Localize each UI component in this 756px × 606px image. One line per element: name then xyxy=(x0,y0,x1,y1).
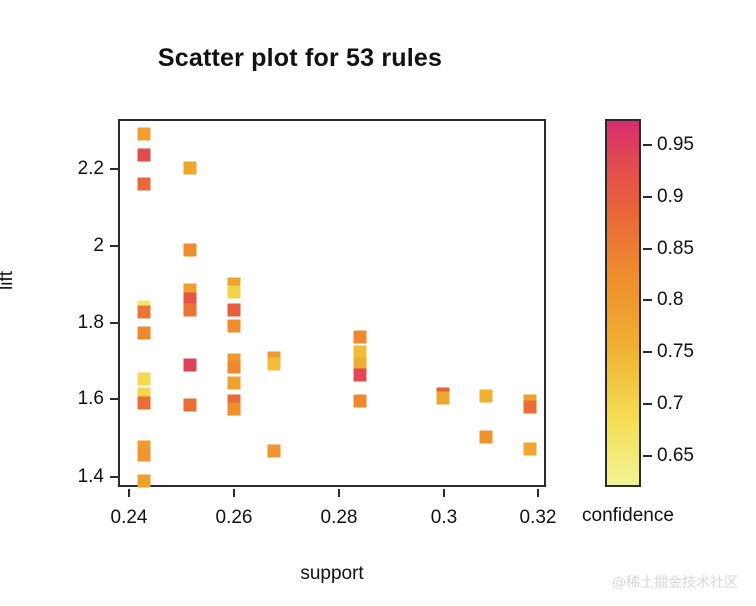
x-axis-title: support xyxy=(118,563,546,585)
x-axis-tick xyxy=(233,489,235,497)
y-tick-label: 1.6 xyxy=(78,388,104,410)
y-axis-tick xyxy=(110,245,118,247)
data-point xyxy=(267,444,280,457)
colorbar-tick xyxy=(643,248,652,250)
y-tick-label: 2 xyxy=(93,235,104,257)
y-axis-title: lift xyxy=(0,271,18,290)
data-point xyxy=(138,372,151,385)
data-point xyxy=(354,395,367,408)
colorbar-tick-label: 0.9 xyxy=(657,186,683,208)
y-axis-tick xyxy=(110,476,118,478)
data-point xyxy=(524,442,537,455)
data-point xyxy=(228,285,241,298)
data-point xyxy=(228,319,241,332)
colorbar-tick xyxy=(643,196,652,198)
x-tick-label: 0.32 xyxy=(520,507,557,529)
data-point xyxy=(184,399,197,412)
x-axis-tick xyxy=(338,489,340,497)
y-tick-label: 1.4 xyxy=(78,466,104,488)
data-point xyxy=(138,177,151,190)
x-tick-label: 0.28 xyxy=(321,507,358,529)
x-tick-label: 0.26 xyxy=(216,507,253,529)
data-point xyxy=(354,368,367,381)
data-point xyxy=(228,304,241,317)
scatter-plot-figure: Scatter plot for 53 rules 1.4 1.6 1.8 2 … xyxy=(0,0,756,606)
data-point xyxy=(138,128,151,141)
data-point xyxy=(480,431,493,444)
y-axis-tick xyxy=(110,322,118,324)
y-axis-tick xyxy=(110,168,118,170)
colorbar-tick-label: 0.8 xyxy=(657,289,683,311)
y-tick-label: 1.8 xyxy=(78,312,104,334)
data-point xyxy=(267,357,280,370)
colorbar-tick-label: 0.7 xyxy=(657,393,683,415)
colorbar-tick xyxy=(643,299,652,301)
colorbar-tick xyxy=(643,403,652,405)
colorbar-tick-label: 0.95 xyxy=(657,134,694,156)
confidence-colorbar xyxy=(605,119,641,487)
x-axis-tick xyxy=(443,489,445,497)
x-tick-label: 0.3 xyxy=(431,507,457,529)
x-tick-label: 0.24 xyxy=(111,507,148,529)
colorbar-tick-label: 0.65 xyxy=(657,445,694,467)
data-point xyxy=(524,401,537,414)
data-point xyxy=(138,327,151,340)
data-point xyxy=(184,359,197,372)
data-point xyxy=(354,331,367,344)
colorbar-tick xyxy=(643,455,652,457)
colorbar-tick xyxy=(643,144,652,146)
y-tick-label: 2.2 xyxy=(78,158,104,180)
data-point xyxy=(184,304,197,317)
watermark: @稀土掘金技术社区 xyxy=(612,572,738,592)
data-point xyxy=(138,475,151,488)
data-point xyxy=(138,149,151,162)
data-point xyxy=(138,397,151,410)
y-axis-tick xyxy=(110,398,118,400)
data-point xyxy=(184,162,197,175)
data-point xyxy=(184,243,197,256)
data-point xyxy=(228,403,241,416)
colorbar-tick-label: 0.75 xyxy=(657,341,694,363)
plot-area xyxy=(118,119,546,487)
colorbar-tick-label: 0.85 xyxy=(657,238,694,260)
data-point xyxy=(436,391,449,404)
colorbar-tick xyxy=(643,351,652,353)
data-point xyxy=(228,361,241,374)
colorbar-title: confidence xyxy=(582,505,674,527)
x-axis-tick xyxy=(537,489,539,497)
data-point xyxy=(138,306,151,319)
x-axis-tick xyxy=(128,489,130,497)
data-point xyxy=(138,448,151,461)
y-axis: 1.4 1.6 1.8 2 2.2 xyxy=(48,0,104,606)
data-point xyxy=(480,389,493,402)
data-points-layer xyxy=(120,121,544,485)
data-point xyxy=(228,376,241,389)
